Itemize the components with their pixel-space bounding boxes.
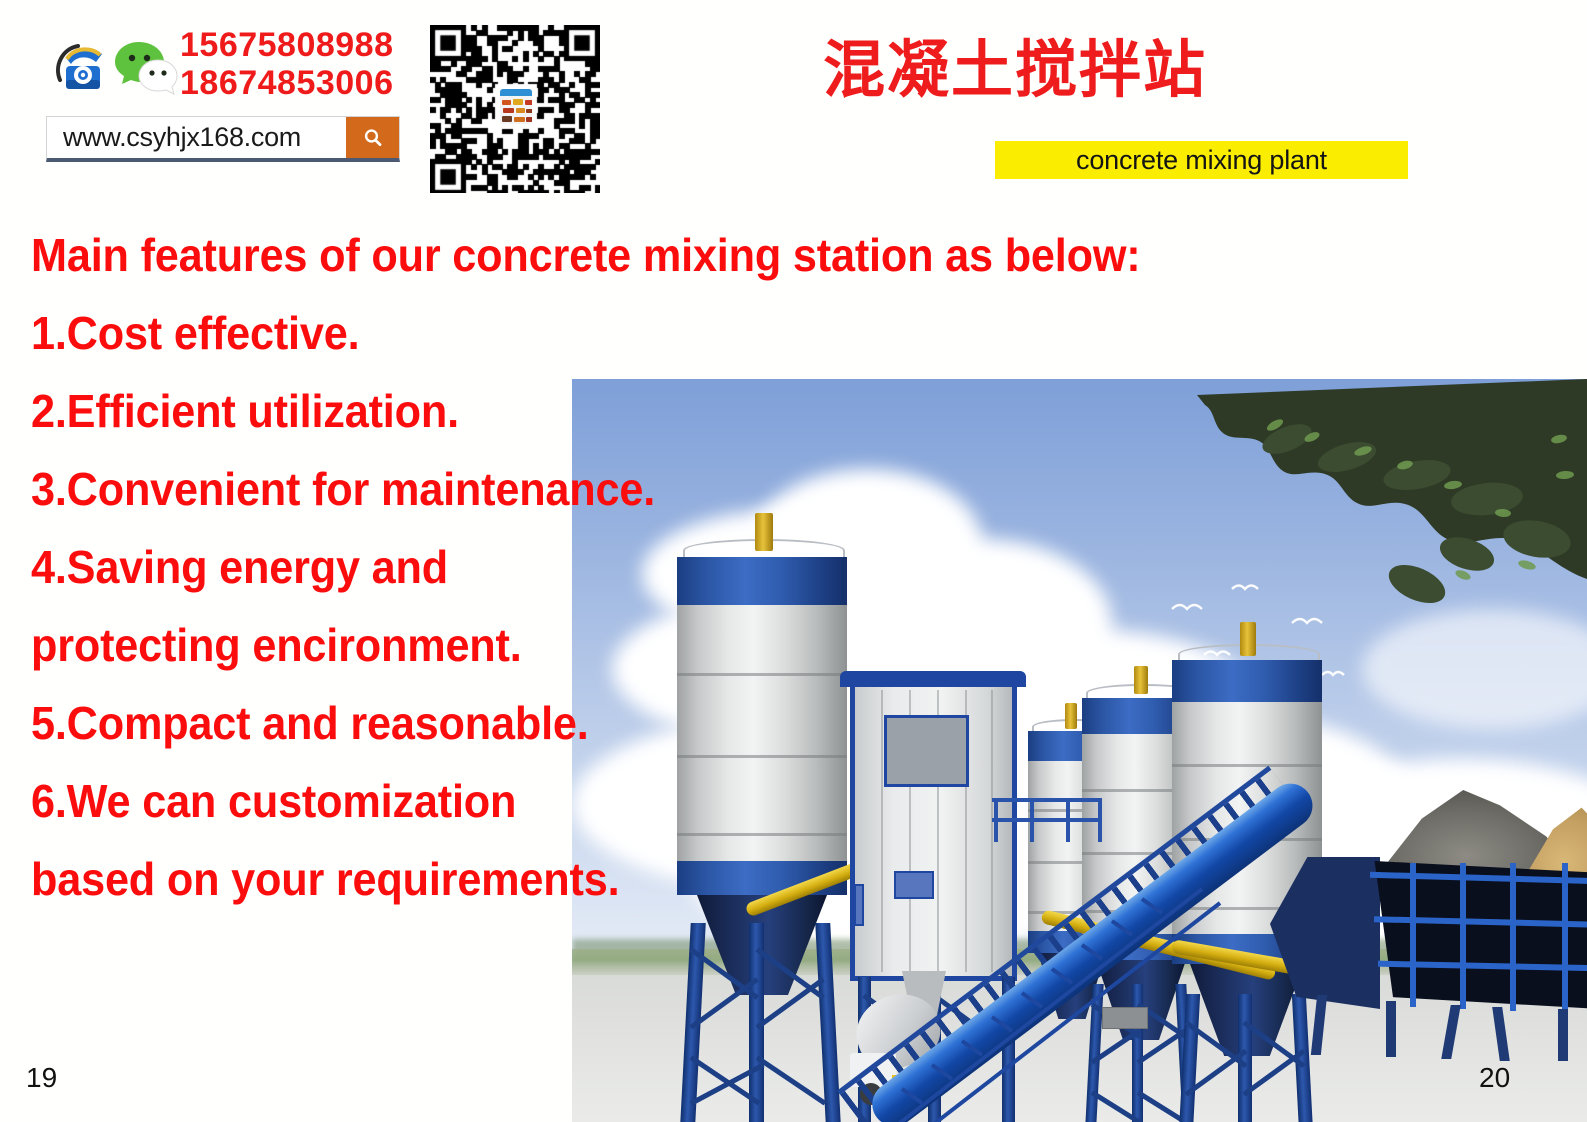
subtitle-band: concrete mixing plant (995, 141, 1408, 179)
page-number-right: 20 (1479, 1062, 1510, 1094)
subtitle-english: concrete mixing plant (1076, 145, 1327, 176)
telephone-icon (52, 36, 114, 98)
feature-item-4-cont: protecting encironment. (31, 606, 1215, 684)
url-search-bar[interactable]: www.csyhjx168.com (46, 116, 400, 162)
feature-item-4: 4.Saving energy and (31, 528, 1215, 606)
conveyor-footpad (1102, 1007, 1148, 1029)
search-icon (361, 126, 385, 150)
wechat-icon (114, 36, 178, 98)
feature-item-1: 1.Cost effective. (31, 294, 1215, 372)
page-number-left: 19 (26, 1062, 57, 1094)
feature-headline: Main features of our concrete mixing sta… (31, 216, 1215, 294)
url-input[interactable]: www.csyhjx168.com (47, 117, 346, 158)
slide-canvas: 15675808988 18674853006 www.csyhjx168.co… (0, 0, 1587, 1122)
qr-code-logo (498, 87, 534, 126)
contact-icon-group (52, 34, 180, 104)
search-button[interactable] (346, 117, 399, 158)
feature-item-3: 3.Convenient for maintenance. (31, 450, 1215, 528)
aggregate-bin-body (1370, 861, 1587, 1009)
phone-number-1: 15675808988 (180, 26, 394, 64)
feature-item-2: 2.Efficient utilization. (31, 372, 1215, 450)
feature-item-6-cont: based on your requirements. (31, 840, 1215, 918)
aggregate-bin (1270, 779, 1587, 1039)
feature-list: Main features of our concrete mixing sta… (31, 216, 1291, 918)
qr-code[interactable] (430, 25, 600, 193)
phone-number-2: 18674853006 (180, 64, 394, 102)
feature-item-6: 6.We can customization (31, 762, 1215, 840)
phone-numbers: 15675808988 18674853006 (180, 26, 394, 102)
feature-item-5: 5.Compact and reasonable. (31, 684, 1215, 762)
contact-block: 15675808988 18674853006 www.csyhjx168.co… (44, 28, 404, 168)
page-title-chinese: 混凝土搅拌站 (823, 35, 1207, 107)
